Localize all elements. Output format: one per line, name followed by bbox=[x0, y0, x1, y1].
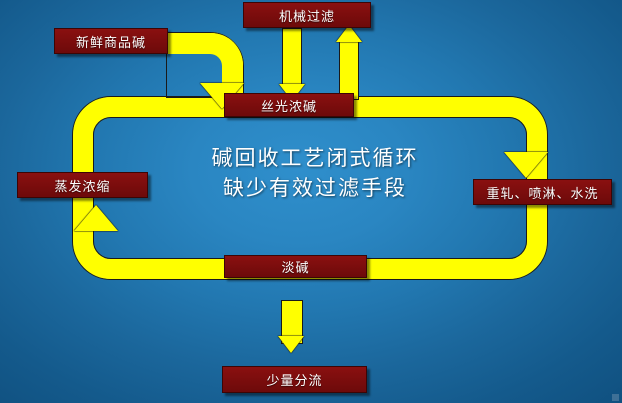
corner-artifact bbox=[612, 394, 619, 401]
arrow-shaft-mercerizing-to-filtration bbox=[339, 40, 359, 100]
node-small-amount-diversion[interactable]: 少量分流 bbox=[222, 366, 367, 393]
arrowhead-down-to-rerolling bbox=[504, 152, 548, 178]
arrowhead-down-to-diversion bbox=[278, 336, 304, 353]
node-re-rolling-spray-washing[interactable]: 重轧、喷淋、水洗 bbox=[473, 179, 612, 205]
diagram-slide: 碱回收工艺闭式循环 缺少有效过滤手段 机械过滤 新鲜商品碱 丝光浓碱 蒸发浓缩 … bbox=[0, 0, 622, 403]
node-fresh-commodity-alkali[interactable]: 新鲜商品碱 bbox=[54, 28, 168, 54]
arrowhead-up-to-evaporation bbox=[74, 205, 118, 231]
node-evaporation-concentration[interactable]: 蒸发浓缩 bbox=[17, 172, 148, 198]
node-mechanical-filtration[interactable]: 机械过滤 bbox=[243, 2, 371, 28]
node-weak-alkali[interactable]: 淡碱 bbox=[224, 255, 367, 278]
node-mercerizing-strong-alkali[interactable]: 丝光浓碱 bbox=[224, 93, 354, 117]
arrow-shaft-filtration-to-mercerizing bbox=[282, 28, 302, 86]
